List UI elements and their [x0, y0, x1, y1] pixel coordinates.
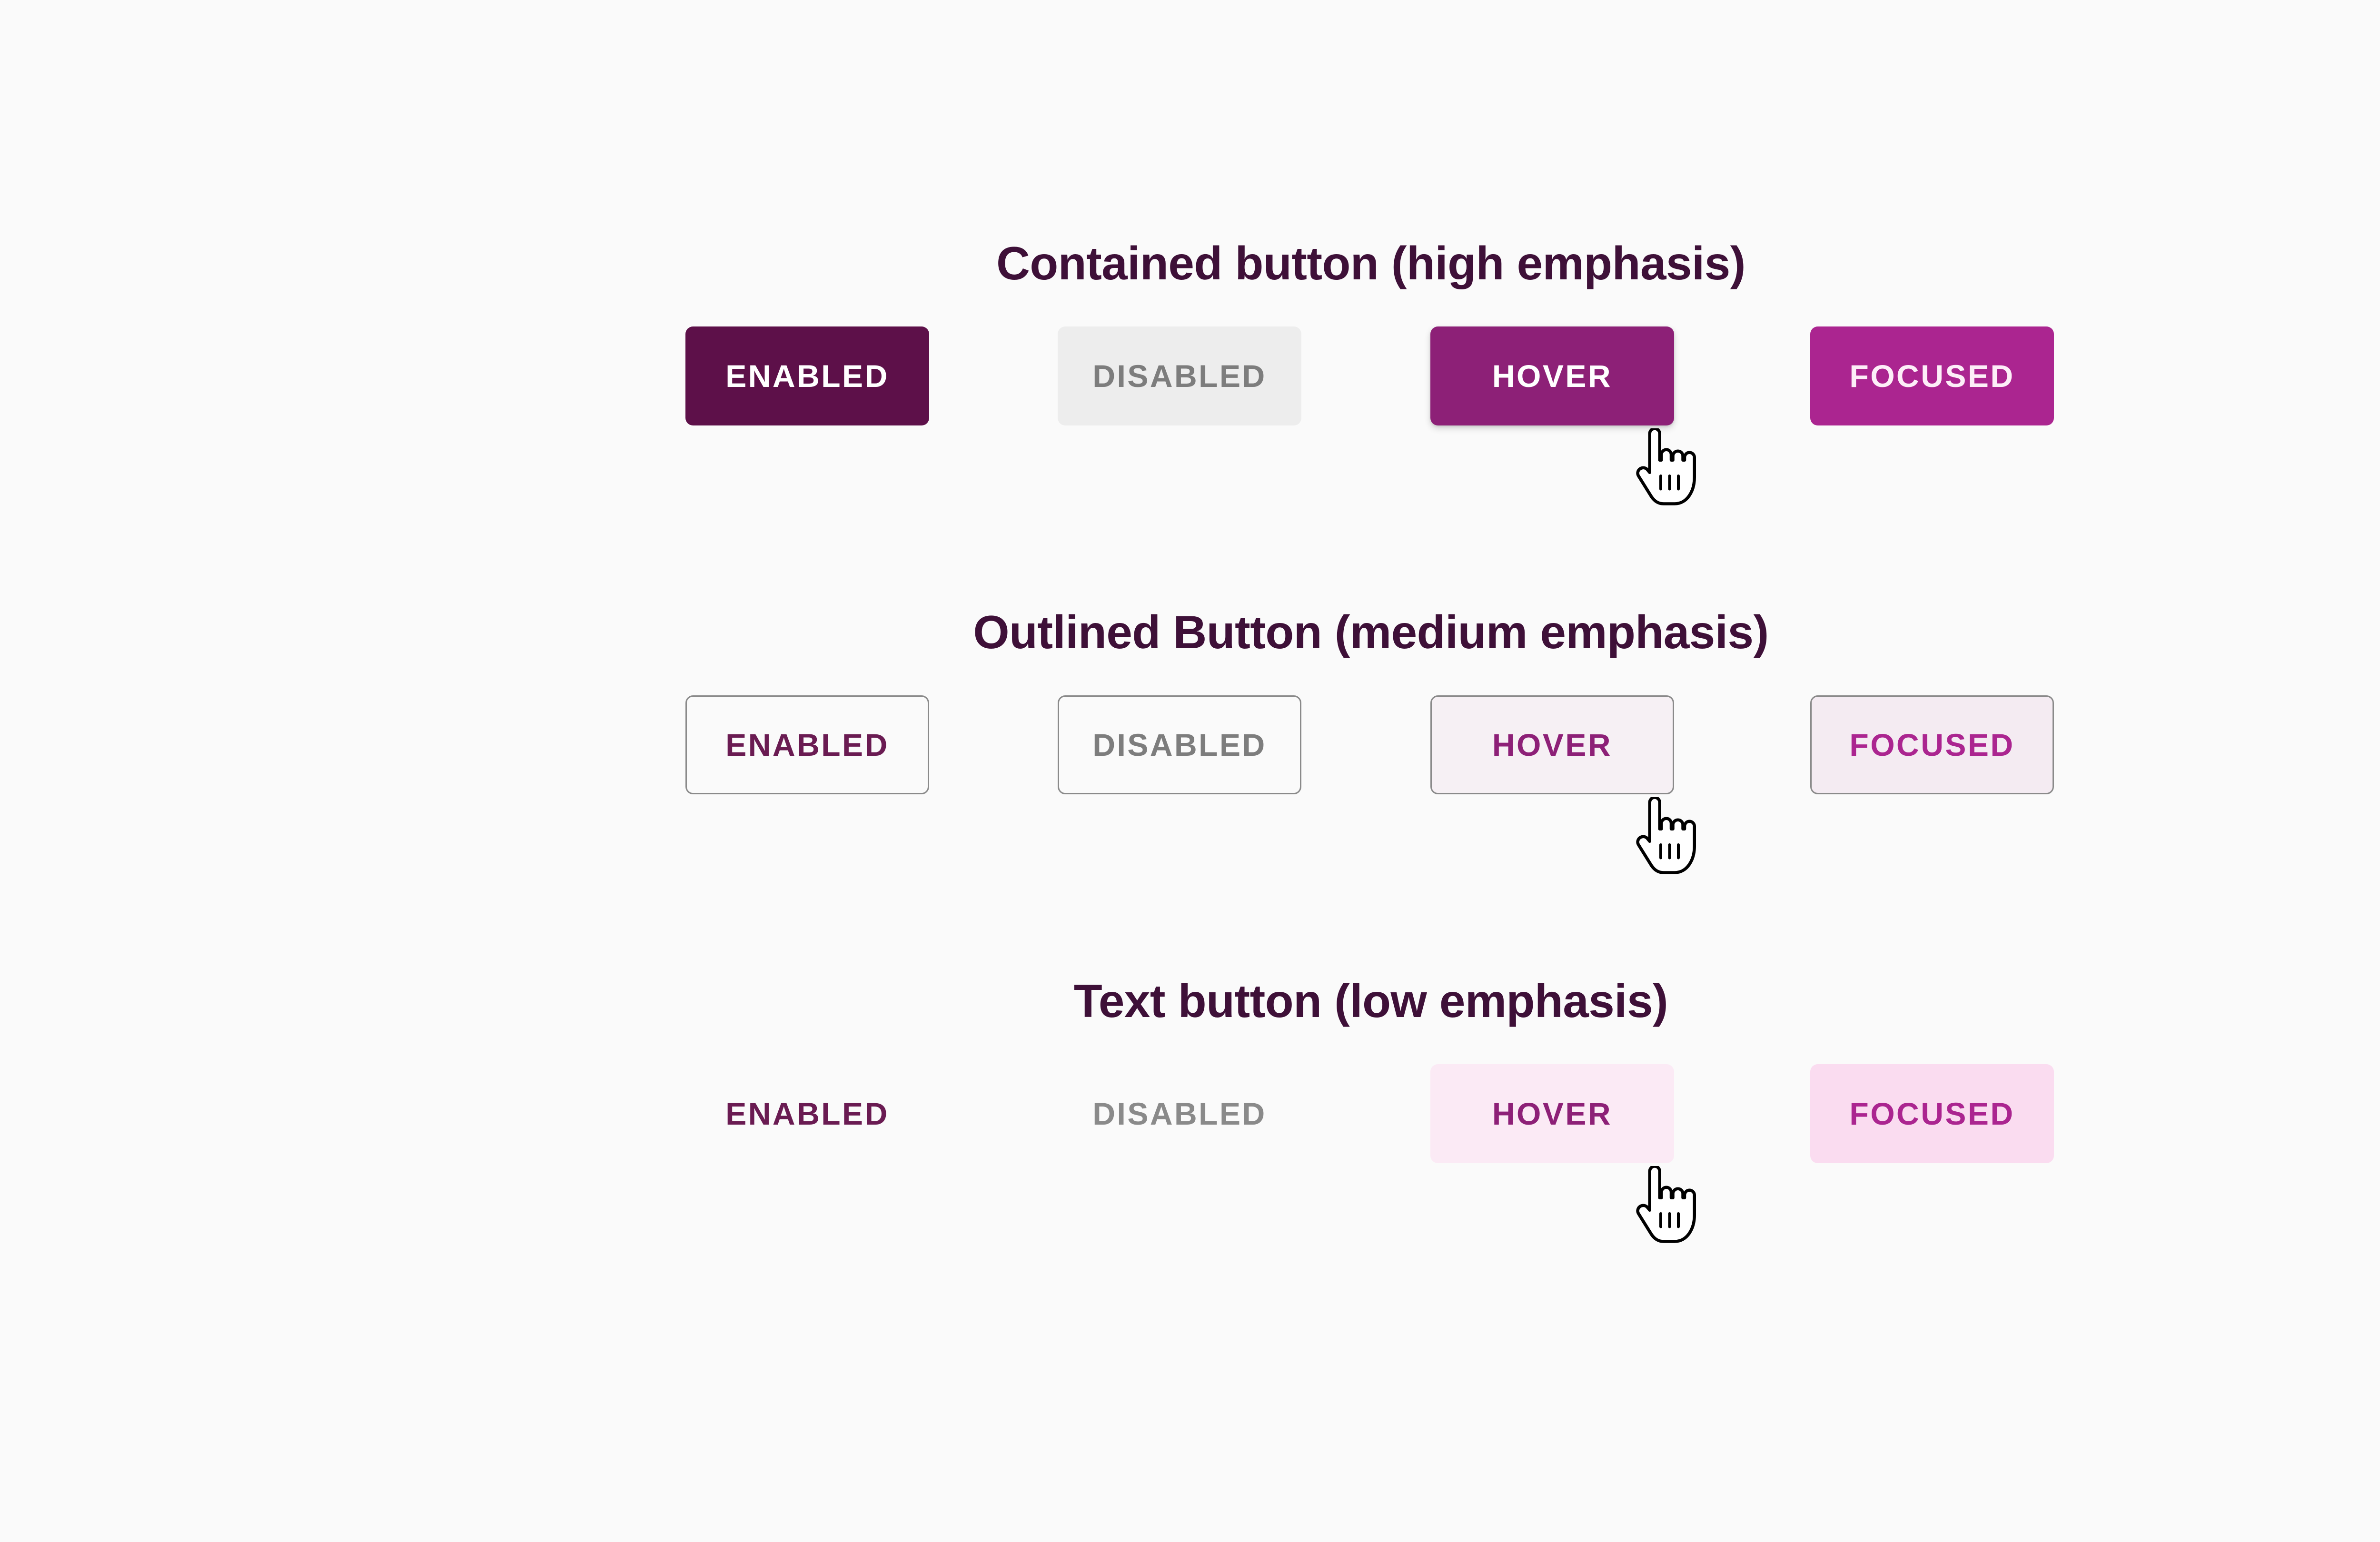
contained-button-enabled[interactable]: ENABLED [685, 326, 929, 425]
outlined-button-disabled: DISABLED [1058, 695, 1301, 794]
text-button-hover[interactable]: HOVER [1430, 1064, 1674, 1163]
section-text-button: Text button (low emphasis) ENABLED DISAB… [0, 976, 2380, 1207]
section-title-contained: Contained button (high emphasis) [0, 238, 2380, 289]
section-title-outlined: Outlined Button (medium emphasis) [0, 607, 2380, 658]
contained-button-disabled: DISABLED [1058, 326, 1301, 425]
section-title-text: Text button (low emphasis) [0, 976, 2380, 1027]
button-row-text: ENABLED DISABLED HOVER FOCUSED [0, 1064, 2380, 1207]
section-outlined-button: Outlined Button (medium emphasis) ENABLE… [0, 607, 2380, 838]
button-row-contained: ENABLED DISABLED HOVER FOCUSED [0, 326, 2380, 469]
button-states-showcase: Contained button (high emphasis) ENABLED… [0, 0, 2380, 1542]
section-contained-button: Contained button (high emphasis) ENABLED… [0, 238, 2380, 469]
contained-button-hover[interactable]: HOVER [1430, 326, 1674, 425]
outlined-button-enabled[interactable]: ENABLED [685, 695, 929, 794]
outlined-button-focused[interactable]: FOCUSED [1810, 695, 2054, 794]
text-button-disabled: DISABLED [1058, 1064, 1301, 1163]
text-button-enabled[interactable]: ENABLED [685, 1064, 929, 1163]
contained-button-focused[interactable]: FOCUSED [1810, 326, 2054, 425]
text-button-focused[interactable]: FOCUSED [1810, 1064, 2054, 1163]
button-row-outlined: ENABLED DISABLED HOVER FOCUSED [0, 695, 2380, 838]
outlined-button-hover[interactable]: HOVER [1430, 695, 1674, 794]
